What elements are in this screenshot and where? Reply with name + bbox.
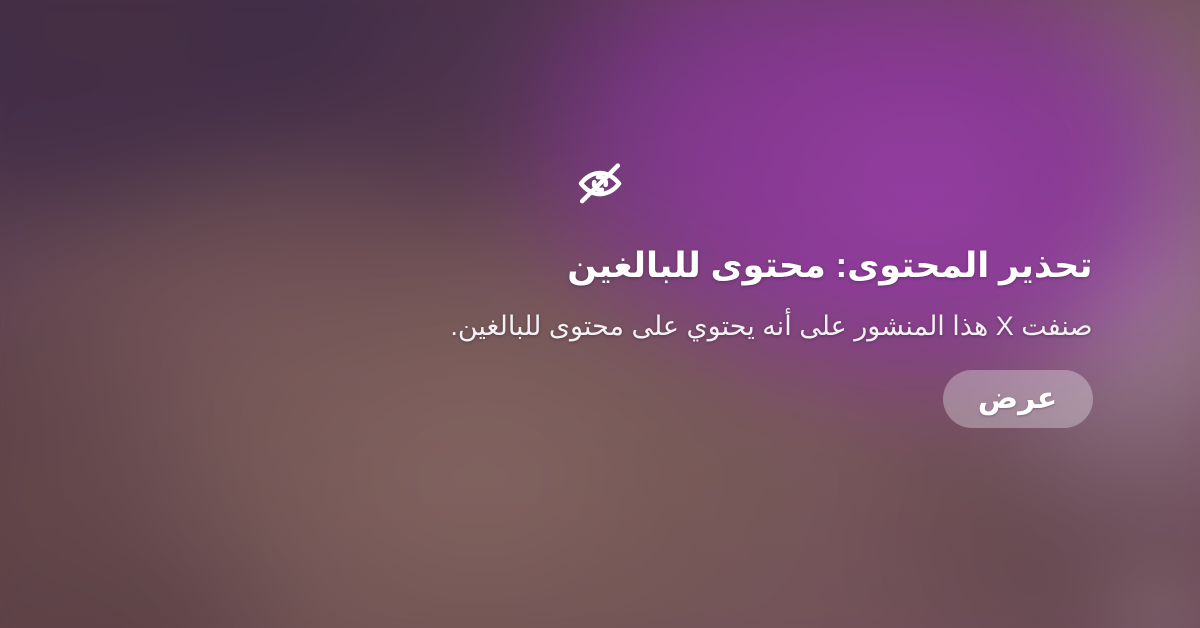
warning-headline: تحذير المحتوى: محتوى للبالغين: [333, 244, 1093, 288]
content-warning-overlay: تحذير المحتوى: محتوى للبالغين صنفت X هذا…: [0, 0, 1200, 628]
eye-off-icon: [569, 152, 631, 214]
warning-body-text: صنفت X هذا المنشور على أنه يحتوي على محت…: [333, 308, 1093, 344]
warning-text-column: تحذير المحتوى: محتوى للبالغين صنفت X هذا…: [333, 244, 1093, 428]
warning-content: تحذير المحتوى: محتوى للبالغين صنفت X هذا…: [0, 0, 1200, 628]
warning-button-row: عرض: [333, 370, 1093, 428]
view-content-button[interactable]: عرض: [943, 370, 1093, 428]
